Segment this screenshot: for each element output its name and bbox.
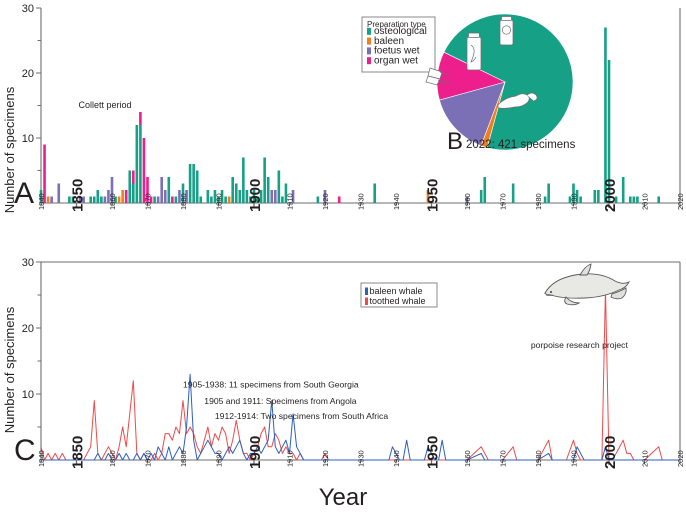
bar-segment	[189, 164, 192, 203]
panel-c-annotations: 1905-1938: 11 specimens from South Georg…	[183, 340, 628, 421]
legend-items: osteologicalbaleenfoetus wetorgan wet	[367, 26, 427, 66]
bar-segment	[224, 197, 227, 204]
bar-segment	[168, 177, 171, 203]
legend-swatch-osteological	[367, 28, 371, 35]
bar-segment	[199, 197, 202, 204]
bar-segment	[579, 197, 582, 204]
bar-segment	[270, 190, 273, 203]
bar-segment	[242, 158, 245, 204]
porpoise-icon	[545, 264, 629, 305]
panel-c-ytick-30: 30	[22, 257, 34, 269]
jar-foetus-icon	[467, 33, 481, 70]
x-tick-label: 2000	[602, 179, 619, 212]
bar-segment	[118, 197, 121, 204]
bar-segment	[132, 184, 135, 204]
x-tick-label: 2020	[676, 450, 685, 467]
x-tick-label: 1850	[70, 436, 87, 469]
panel-c-ytick-10: 10	[22, 389, 34, 401]
x-tick-label: 1880	[179, 193, 188, 210]
panel-c-ylabel: Number of specimens	[2, 306, 17, 433]
x-tick-label: 1920	[321, 193, 330, 210]
bar-segment	[267, 177, 270, 203]
x-tick-label: 1940	[392, 450, 401, 467]
bar-segment	[171, 197, 174, 204]
bar-segment	[231, 177, 234, 203]
collett-period-annotation: Collett period	[78, 100, 131, 110]
bar-segment	[128, 171, 131, 204]
panel-c-legend-label-toothed-whale: toothed whale	[370, 296, 426, 306]
panel-c-yaxis: 30 20 10	[22, 257, 41, 460]
panel-a-letter: A	[14, 177, 34, 210]
x-tick-label: 2010	[641, 450, 650, 467]
bar-segment	[104, 197, 107, 204]
x-tick-label: 1850	[70, 179, 87, 212]
bar-segment	[278, 171, 281, 204]
bar-segment	[235, 184, 238, 204]
x-tick-label: 1840	[37, 193, 46, 210]
panel-a-ytick-10: 10	[22, 133, 34, 145]
bar-segment	[153, 197, 156, 204]
bar-segment	[317, 197, 320, 204]
bar-segment	[57, 184, 60, 204]
x-tick-label: 2010	[641, 193, 650, 210]
panel-b: B 2022: 421 specimens	[426, 14, 576, 155]
panel-c-annotation-0: 1905-1938: 11 specimens from South Georg…	[183, 379, 359, 389]
panel-a-legend: Preparation type osteologicalbaleenfoetu…	[362, 17, 435, 72]
panel-c-annotation-3: porpoise research project	[531, 340, 629, 350]
x-tick-label: 1930	[357, 450, 366, 467]
bar-segment	[544, 197, 547, 204]
x-tick-label: 1890	[215, 450, 224, 467]
panel-a-yaxis: 30 20 10	[22, 3, 41, 203]
bar-segment	[228, 197, 231, 204]
x-tick-label: 1960	[463, 193, 472, 210]
x-tick-label: 1910	[286, 193, 295, 210]
panel-c: Number of specimens 30 20 10 C 184018501…	[2, 257, 685, 511]
x-tick-label: 1840	[37, 450, 46, 467]
bar-segment	[633, 197, 636, 204]
x-tick-label: 1880	[179, 450, 188, 467]
bar-segment	[139, 125, 142, 203]
figure-svg: Number of specimens 30 20 10 A 184018501…	[0, 0, 686, 517]
legend-swatch-baleen	[367, 38, 371, 45]
x-tick-label: 1940	[392, 193, 401, 210]
panel-a-ytick-20: 20	[22, 68, 34, 80]
bar-segment	[139, 112, 142, 125]
panel-c-ytick-20: 20	[22, 323, 34, 335]
bar-segment	[93, 197, 96, 204]
panel-c-annotation-1: 1905 and 1911: Specimens from Angola	[204, 396, 356, 406]
bar-segment	[604, 28, 607, 204]
x-tick-label: 1980	[534, 450, 543, 467]
bar-segment	[239, 190, 242, 203]
panel-c-legend-items: baleen whaletoothed whale	[365, 286, 426, 306]
legend-swatch-foetus-wet	[367, 47, 371, 54]
bar-segment	[143, 138, 146, 203]
panel-c-lines	[41, 288, 680, 460]
panel-c-legend-label-baleen-whale: baleen whale	[370, 286, 423, 296]
bar-segment	[157, 197, 160, 204]
x-tick-label: 1890	[215, 193, 224, 210]
series-line-toothed-whale	[41, 288, 680, 460]
bar-segment	[210, 197, 213, 204]
panel-c-legend: baleen whaletoothed whale	[361, 283, 437, 307]
panel-a: Number of specimens 30 20 10 A 184018501…	[2, 3, 685, 213]
bar-segment	[97, 190, 100, 203]
bar-segment	[657, 197, 660, 204]
bar-segment	[480, 190, 483, 203]
x-tick-label: 1860	[108, 450, 117, 467]
bar-segment	[597, 190, 600, 203]
x-tick-label: 1900	[247, 179, 264, 212]
bar-segment	[338, 197, 341, 204]
bar-segment	[547, 184, 550, 204]
bar-segment	[373, 184, 376, 204]
x-tick-label: 1930	[357, 193, 366, 210]
bar-segment	[483, 177, 486, 203]
x-axis-label-year: Year	[319, 484, 368, 511]
panel-c-legend-swatch-baleen-whale	[365, 288, 368, 296]
bar-segment	[47, 197, 50, 204]
x-tick-label: 1980	[534, 193, 543, 210]
bar-segment	[50, 197, 53, 204]
bar-segment	[89, 197, 92, 204]
bar-segment	[594, 190, 597, 203]
bar-segment	[629, 197, 632, 204]
bar-segment	[622, 177, 625, 203]
x-tick-label: 1870	[144, 450, 153, 467]
x-tick-label: 1970	[499, 450, 508, 467]
legend-label-organ-wet: organ wet	[374, 55, 418, 66]
bar-segment	[192, 164, 195, 203]
bar-segment	[125, 190, 128, 203]
x-tick-label: 1950	[425, 436, 442, 469]
panel-c-legend-swatch-toothed-whale	[365, 298, 368, 306]
legend-swatch-organ-wet	[367, 57, 371, 64]
x-tick-label: 1950	[425, 179, 442, 212]
bar-segment	[164, 190, 167, 203]
x-tick-label: 1970	[499, 193, 508, 210]
bar-segment	[100, 197, 103, 204]
x-tick-label: 1900	[247, 436, 264, 469]
bar-segment	[121, 190, 124, 203]
x-tick-label: 1920	[321, 450, 330, 467]
figure-root: Number of specimens 30 20 10 A 184018501…	[0, 0, 686, 517]
panel-c-annotation-2: 1912-1914: Two specimens from South Afri…	[215, 411, 388, 421]
panel-b-letter: B	[447, 128, 463, 155]
x-tick-label: 1990	[570, 193, 579, 210]
x-tick-label: 1960	[463, 450, 472, 467]
bar-segment	[132, 171, 135, 184]
bar-segment	[512, 184, 515, 204]
bar-segment	[281, 197, 284, 204]
bar-segment	[175, 197, 178, 204]
bar-segment	[160, 177, 163, 203]
x-tick-label: 1860	[108, 193, 117, 210]
jar-organ-icon	[500, 17, 513, 46]
bar-segment	[196, 171, 199, 204]
x-tick-label: 1910	[286, 450, 295, 467]
bar-segment	[207, 190, 210, 203]
bar-segment	[636, 197, 639, 204]
panel-b-caption: 2022: 421 specimens	[466, 139, 576, 151]
x-tick-label: 1990	[570, 450, 579, 467]
panel-a-ytick-30: 30	[22, 3, 34, 15]
x-tick-label: 2000	[602, 436, 619, 469]
panel-c-xaxis: 1840185018601870188018901900191019201930…	[37, 436, 685, 469]
x-tick-label: 1870	[144, 193, 153, 210]
bar-segment	[136, 125, 139, 203]
panel-c-letter: C	[14, 434, 36, 467]
bar-segment	[274, 190, 277, 203]
x-tick-label: 2020	[676, 193, 685, 210]
